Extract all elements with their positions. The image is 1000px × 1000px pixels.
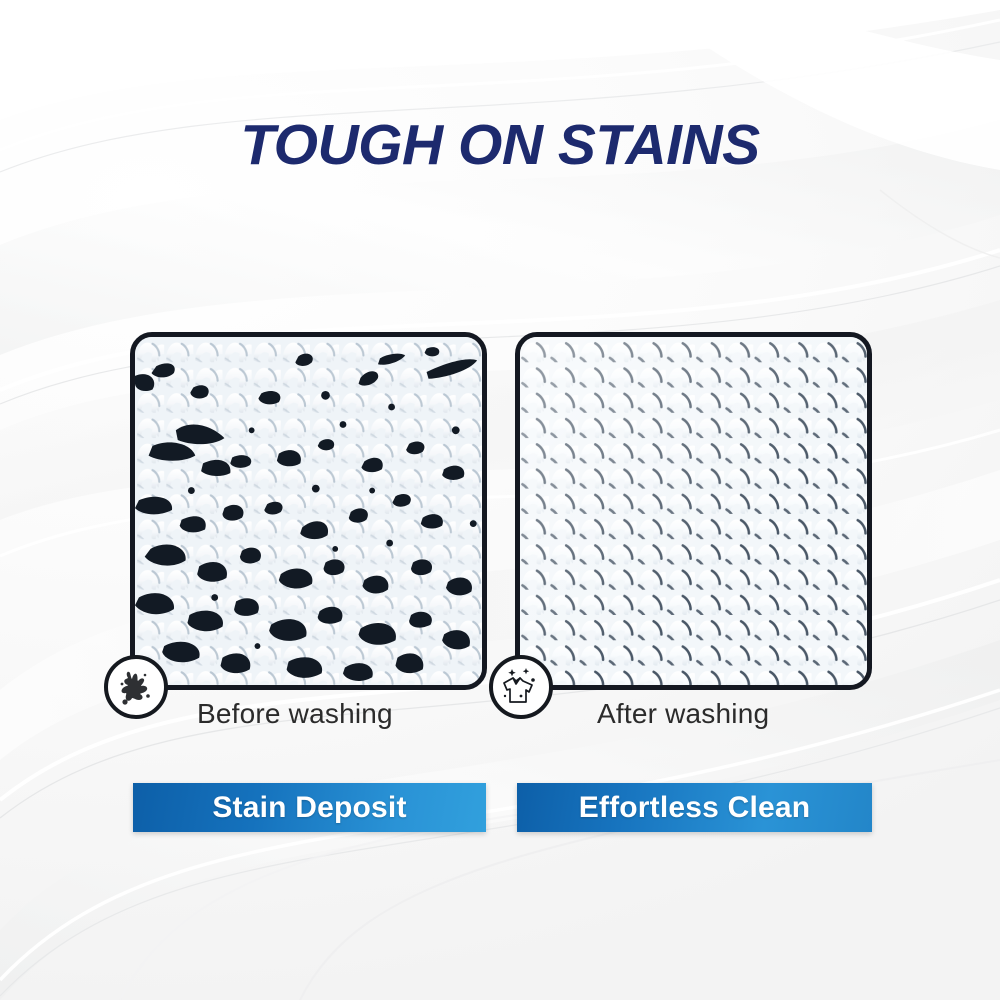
clean-badge [489, 655, 553, 719]
stain-deposit-label-bar: Stain Deposit [133, 783, 486, 832]
stain-marks-icon [135, 337, 482, 685]
before-washing-panel [130, 332, 487, 690]
page-title: TOUGH ON STAINS [0, 112, 1000, 178]
after-washing-caption: After washing [597, 698, 769, 730]
stain-badge [104, 655, 168, 719]
clean-fabric-texture-icon [520, 337, 867, 685]
effortless-clean-label: Effortless Clean [579, 791, 811, 825]
after-washing-panel [515, 332, 872, 690]
promo-banner: TOUGH ON STAINS [0, 0, 1000, 1000]
before-washing-caption: Before washing [197, 698, 393, 730]
ink-splatter-icon [116, 667, 156, 707]
effortless-clean-label-bar: Effortless Clean [517, 783, 872, 832]
stain-deposit-label: Stain Deposit [212, 791, 406, 825]
clean-shirt-sparkle-icon [499, 665, 543, 709]
